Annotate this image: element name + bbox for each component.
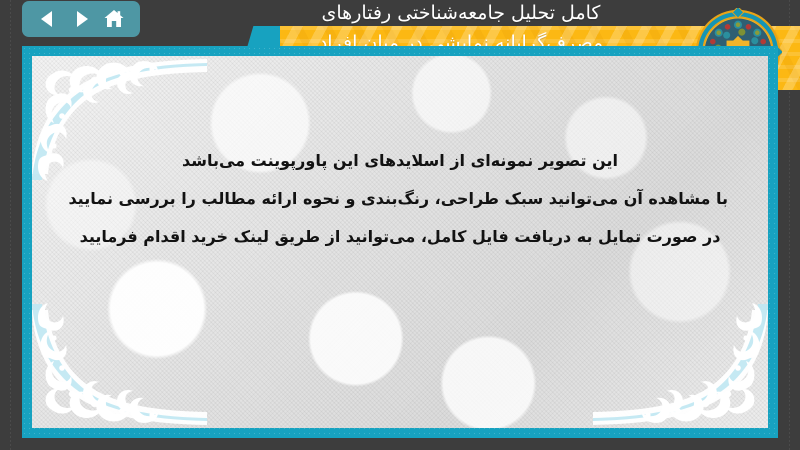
top-bar: کامل تحلیل جامعه‌شناختی رفتارهای مصرف‌گر… xyxy=(0,0,800,46)
slide-stage: کامل تحلیل جامعه‌شناختی رفتارهای مصرف‌گر… xyxy=(0,0,800,450)
arabesque-corner-ornament xyxy=(593,293,768,428)
slide-frame: این تصویر نمونه‌ای از اسلایدهای این پاور… xyxy=(22,46,778,438)
slide-canvas: این تصویر نمونه‌ای از اسلایدهای این پاور… xyxy=(32,56,768,428)
navigation-controls[interactable] xyxy=(22,1,140,37)
body-line-1: این تصویر نمونه‌ای از اسلایدهای این پاور… xyxy=(72,142,728,180)
triangle-right-icon[interactable] xyxy=(68,6,94,32)
body-line-3: در صورت تمایل به دریافت فایل کامل، می‌تو… xyxy=(72,218,728,256)
house-icon[interactable] xyxy=(101,6,127,32)
triangle-left-icon[interactable] xyxy=(35,6,61,32)
arabesque-corner-ornament xyxy=(32,293,207,428)
body-line-2: با مشاهده آن می‌توانید سبک طراحی، رنگ‌بن… xyxy=(72,180,728,218)
left-seam xyxy=(10,0,11,450)
slide-body-text: این تصویر نمونه‌ای از اسلایدهای این پاور… xyxy=(72,142,728,256)
